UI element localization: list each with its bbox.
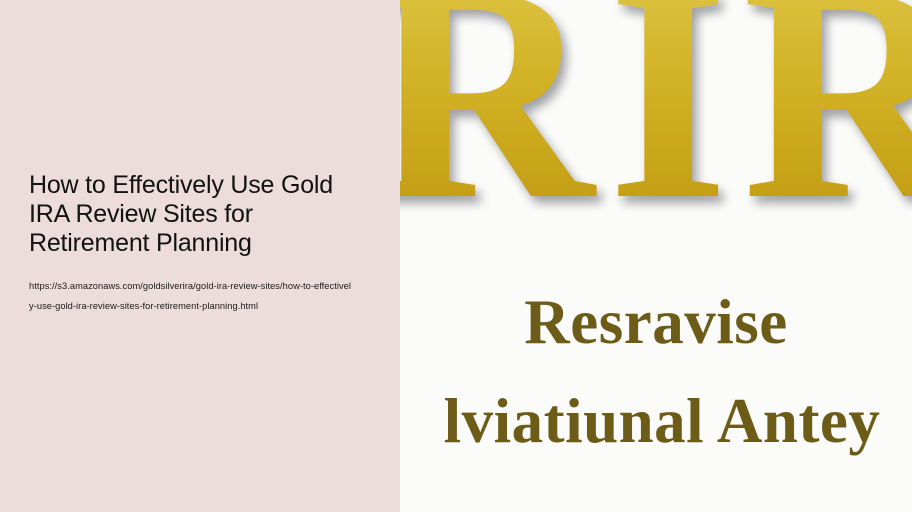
preview-image-panel: RIR Resravise lviatiunal Antey <box>400 0 912 512</box>
page-url[interactable]: https://s3.amazonaws.com/goldsilverira/g… <box>29 276 351 316</box>
brand-name-line: Resravise <box>400 287 912 357</box>
brand-tagline-line: lviatiunal Antey <box>406 386 912 456</box>
link-preview-card: How to Effectively Use Gold IRA Review S… <box>0 0 912 512</box>
metadata-panel: How to Effectively Use Gold IRA Review S… <box>0 0 400 512</box>
page-title: How to Effectively Use Gold IRA Review S… <box>29 171 377 258</box>
brand-wordmark: RIR <box>400 0 912 258</box>
